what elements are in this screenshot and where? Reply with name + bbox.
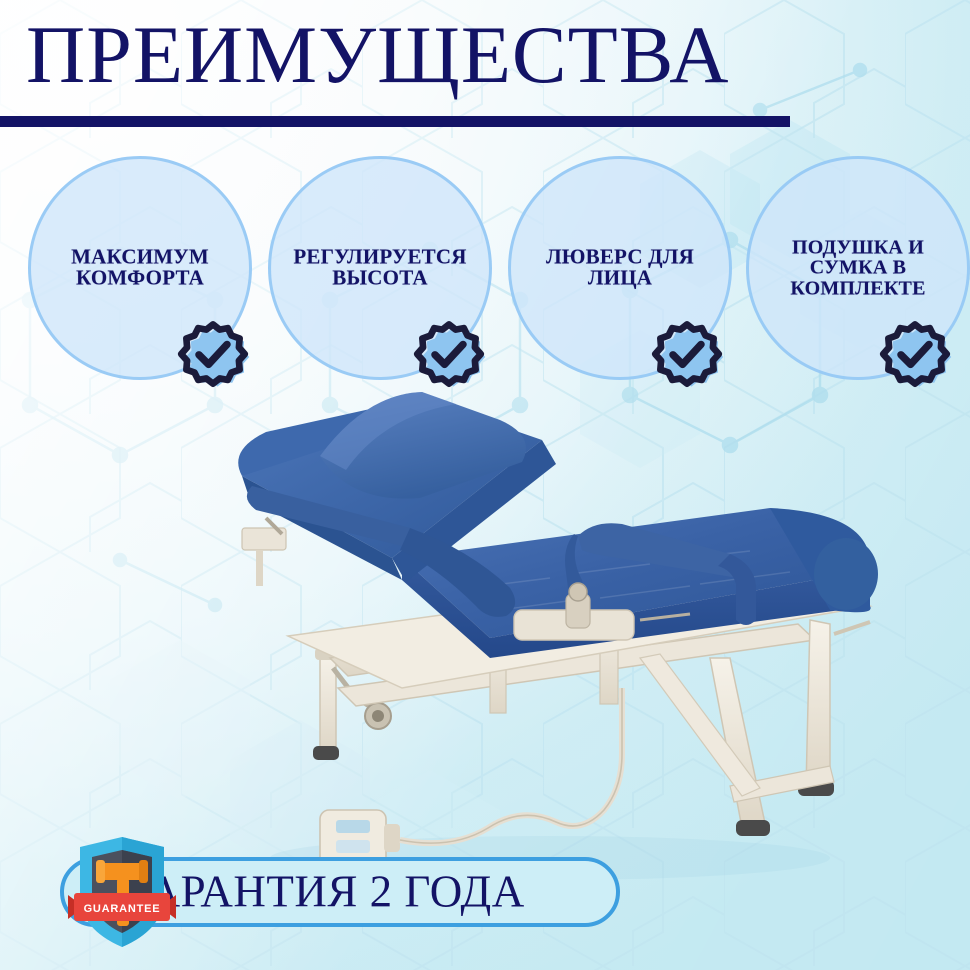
page-title-block: ПРЕИМУЩЕСТВА bbox=[0, 14, 970, 96]
feature-label-line: РЕГУЛИРУЕТСЯ bbox=[272, 247, 488, 268]
guarantee-banner: ГАРАНТИЯ 2 ГОДА GUARANTEE bbox=[60, 857, 620, 927]
massage-table-illustration bbox=[170, 358, 890, 888]
title-underline-rule bbox=[0, 116, 790, 127]
feature-badge-pillow-and-bag-included[interactable]: ПОДУШКА И СУМКА В КОМПЛЕКТЕ bbox=[746, 156, 970, 380]
guarantee-ribbon-text: GUARANTEE bbox=[84, 903, 161, 915]
feature-label-line: МАКСИМУМ bbox=[32, 247, 248, 268]
feature-badge-face-grommet[interactable]: ЛЮВЕРС ДЛЯ ЛИЦА bbox=[508, 156, 732, 380]
feature-label: ПОДУШКА И СУМКА В КОМПЛЕКТЕ bbox=[750, 237, 966, 298]
feature-label-line: КОМФОРТА bbox=[32, 268, 248, 289]
feature-label-line: ПОДУШКА И bbox=[750, 237, 966, 257]
page-title: ПРЕИМУЩЕСТВА bbox=[26, 14, 970, 96]
feature-label-line: СУМКА В bbox=[750, 258, 966, 278]
guarantee-text: ГАРАНТИЯ 2 ГОДА bbox=[126, 870, 525, 915]
feature-badge-maximum-comfort[interactable]: МАКСИМУМ КОМФОРТА bbox=[28, 156, 252, 380]
feature-label: ЛЮВЕРС ДЛЯ ЛИЦА bbox=[512, 247, 728, 290]
product-image bbox=[170, 358, 890, 888]
feature-label-line: ВЫСОТА bbox=[272, 268, 488, 289]
feature-label: МАКСИМУМ КОМФОРТА bbox=[32, 247, 248, 290]
feature-label-line: ЛИЦА bbox=[512, 268, 728, 289]
feature-label-line: КОМПЛЕКТЕ bbox=[750, 278, 966, 298]
feature-label: РЕГУЛИРУЕТСЯ ВЫСОТА bbox=[272, 247, 488, 290]
poster-canvas: ПРЕИМУЩЕСТВА МАКСИМУМ КОМФОРТА РЕГУЛИРУЕ… bbox=[0, 0, 970, 970]
feature-badge-height-adjustable[interactable]: РЕГУЛИРУЕТСЯ ВЫСОТА bbox=[268, 156, 492, 380]
guarantee-shield-icon: GUARANTEE bbox=[66, 833, 178, 951]
feature-label-line: ЛЮВЕРС ДЛЯ bbox=[512, 247, 728, 268]
feature-badges-row: МАКСИМУМ КОМФОРТА РЕГУЛИРУЕТСЯ ВЫСОТА bbox=[0, 148, 970, 388]
frame-bracket-left bbox=[242, 518, 286, 586]
